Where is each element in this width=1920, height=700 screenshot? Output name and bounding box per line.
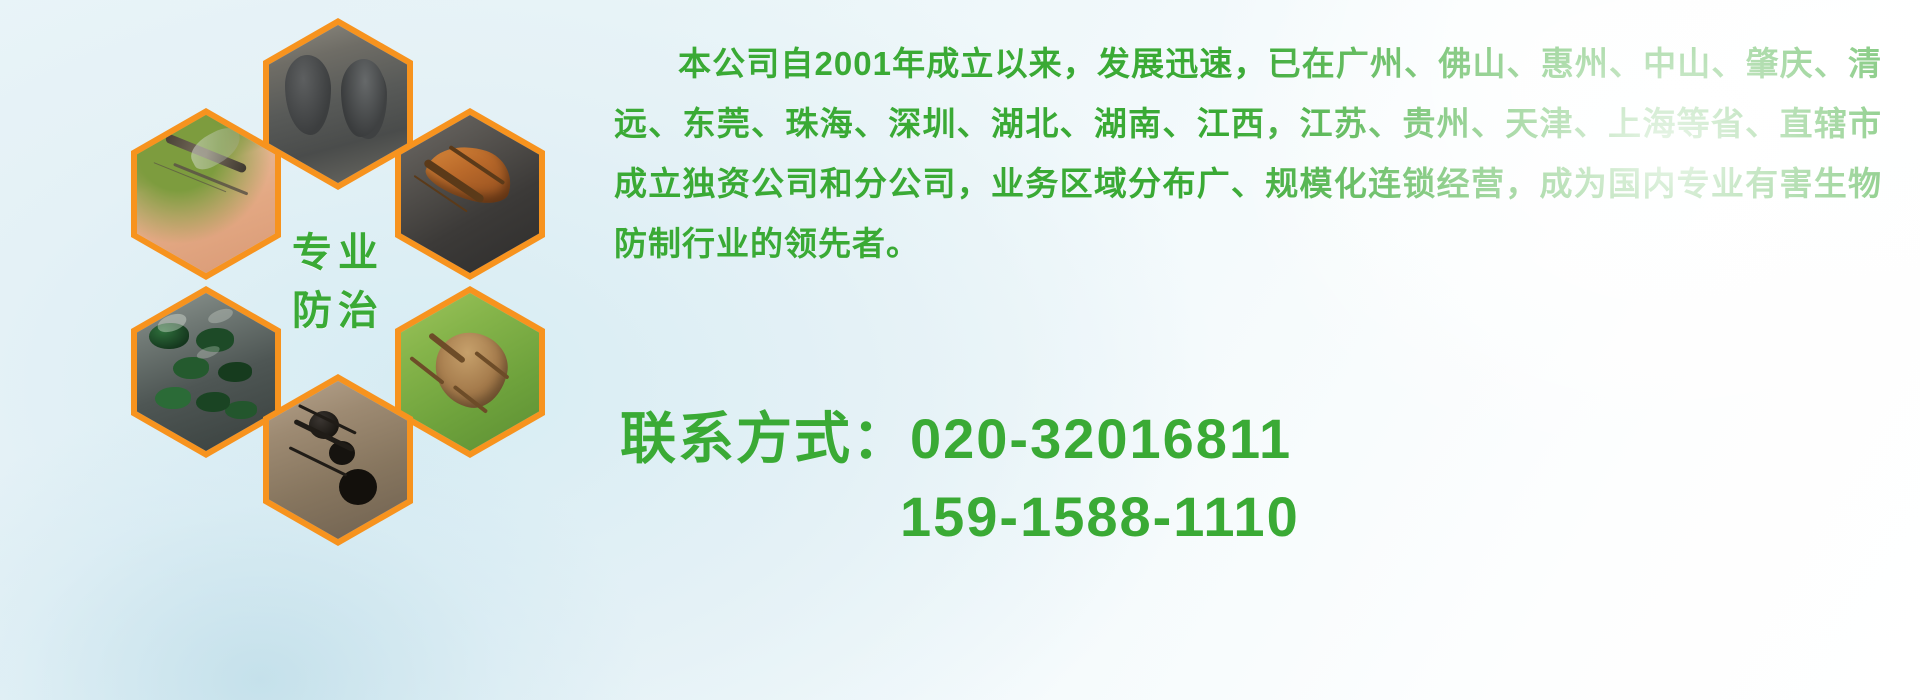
hex-photo-ant[interactable] (263, 374, 413, 546)
stinkbug-image (401, 293, 539, 451)
mosquito-image (137, 115, 275, 273)
honeycomb-photo-cluster: 专业 防治 (95, 10, 575, 570)
ant-image (269, 381, 407, 539)
slogan-hex: 专业 防治 (263, 196, 413, 368)
hex-photo-ant-frame (269, 381, 407, 539)
hex-photo-cockroach-frame (401, 115, 539, 273)
cockroach-image (401, 115, 539, 273)
hex-photo-mosquito[interactable] (131, 108, 281, 280)
hex-photo-stinkbug[interactable] (395, 286, 545, 458)
hex-photo-rats[interactable] (263, 18, 413, 190)
hex-photo-stinkbug-frame (401, 293, 539, 451)
contact-block: 联系方式：020-32016811 159-1588-1110 (620, 400, 1900, 556)
promo-banner: 专业 防治 本公司自2001年成立以来，发展迅速，已在广州、佛山、惠州、中山、肇… (0, 0, 1920, 700)
company-intro-block: 本公司自2001年成立以来，发展迅速，已在广州、佛山、惠州、中山、肇庆、清远、东… (614, 34, 1882, 274)
contact-line-landline[interactable]: 联系方式：020-32016811 (620, 400, 1900, 478)
hex-photo-mosquito-frame (137, 115, 275, 273)
hex-photo-flies[interactable] (131, 286, 281, 458)
hex-photo-rats-frame (269, 25, 407, 183)
hex-photo-cockroach[interactable] (395, 108, 545, 280)
slogan-line-1: 专业 (292, 224, 384, 282)
hex-photo-flies-frame (137, 293, 275, 451)
slogan-line-2: 防治 (292, 282, 384, 340)
rats-image (269, 25, 407, 183)
contact-line-mobile[interactable]: 159-1588-1110 (620, 478, 1900, 556)
flies-image (137, 293, 275, 451)
company-intro-paragraph: 本公司自2001年成立以来，发展迅速，已在广州、佛山、惠州、中山、肇庆、清远、东… (614, 34, 1882, 274)
